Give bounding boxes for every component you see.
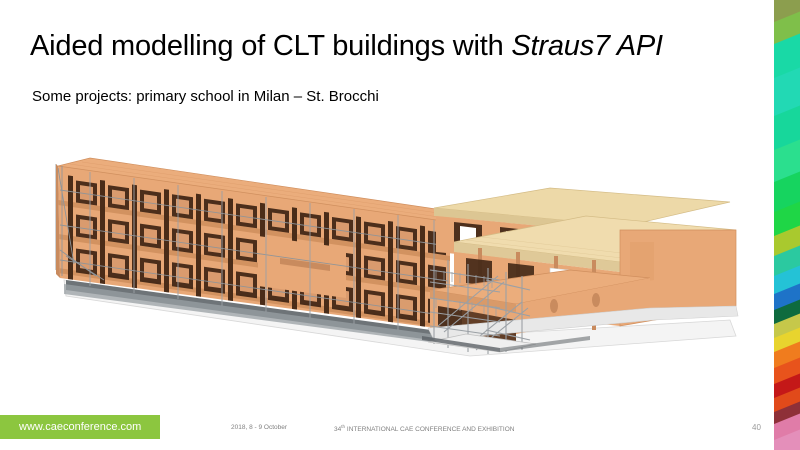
footer-conference-name: 34th INTERNATIONAL CAE CONFERENCE AND EX… [334,424,514,433]
footer-date: 2018, 8 - 9 October [231,424,287,431]
footer-website-link[interactable]: www.caeconference.com [19,421,141,433]
page-title: Aided modelling of CLT buildings with St… [30,28,730,64]
presentation-slide: Aided modelling of CLT buildings with St… [0,0,800,450]
page-title-main: Aided modelling of CLT buildings with [30,30,511,62]
long-clt-block [56,158,470,346]
color-strip-left-mask [768,0,774,450]
page-number: 40 [752,423,761,432]
page-subtitle: Some projects: primary school in Milan –… [32,88,379,105]
page-title-emphasis: Straus7 API [511,30,662,62]
decorative-color-strip [768,0,800,450]
clt-building-3d-model [30,130,750,395]
conference-title-text: INTERNATIONAL CAE CONFERENCE AND EXHIBIT… [345,426,514,433]
